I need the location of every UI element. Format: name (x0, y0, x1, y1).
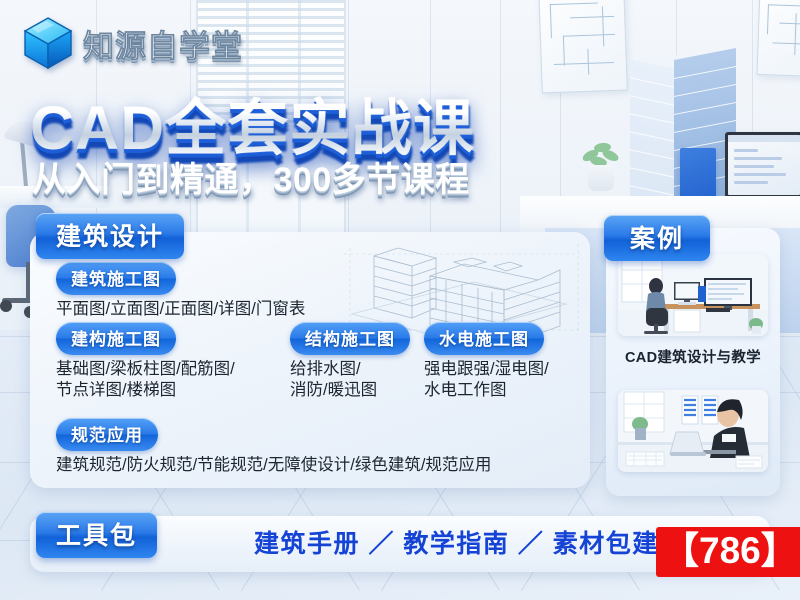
desc-architectural-drawings: 平面图/立面图/正面图/详图/门窗表 (56, 299, 305, 320)
badge-cases: 案例 (604, 215, 710, 261)
page-subtitle: 从入门到精通，300多节课程 (32, 152, 470, 201)
cube-icon (22, 16, 74, 70)
case-caption: CAD建筑设计与教学 (606, 346, 780, 367)
blueprint-sheet-icon (757, 0, 800, 77)
brand-name: 知源自学堂 (83, 21, 243, 66)
group-structure-drawings: 结构施工图 给排水图/ 消防/暖迅图 (290, 322, 420, 401)
desc-structure-drawings: 给排水图/ 消防/暖迅图 (290, 359, 420, 401)
badge-toolkit: 工具包 (36, 512, 157, 558)
poster-root: 知源自学堂 CAD全套实战课 从入门到精通，300多节课程 (0, 0, 800, 600)
pill-architectural-drawings: 建筑施工图 (56, 262, 176, 295)
desc-code-compliance: 建筑规范/防火规范/节能规范/无障使设计/绿色建筑/规范应用 (56, 455, 491, 476)
case-image-desk-setup (618, 254, 768, 336)
desc-structural-framing: 基础图/梁板柱图/配筋图/ 节点详图/楼梯图 (56, 359, 286, 401)
pill-structural-framing: 建构施工图 (56, 322, 176, 355)
group-mep-drawings: 水电施工图 强电跟强/湿电图/ 水电工作图 (424, 322, 584, 401)
group-architectural-drawings: 建筑施工图 平面图/立面图/正面图/详图/门窗表 (56, 262, 305, 320)
toolkit-items: 建筑手册 ／ 教学指南 ／ 素材包建 (254, 524, 659, 560)
blueprint-sheet-icon (538, 0, 628, 93)
monitor-icon (725, 132, 800, 198)
desc-mep-drawings: 强电跟强/湿电图/ 水电工作图 (424, 359, 584, 401)
group-code-compliance: 规范应用 建筑规范/防火规范/节能规范/无障使设计/绿色建筑/规范应用 (56, 418, 491, 476)
pill-code-compliance: 规范应用 (56, 418, 158, 451)
brand-logo[interactable]: 知源自学堂 (22, 16, 243, 70)
potted-plant-icon (580, 135, 622, 191)
promo-number-badge: 【786】 (656, 527, 800, 577)
pill-structure-drawings: 结构施工图 (290, 322, 410, 355)
badge-design: 建筑设计 (36, 213, 184, 259)
case-image-woman-laptop (618, 390, 768, 472)
case-panel: CAD建筑设计与教学 (606, 228, 780, 496)
pill-mep-drawings: 水电施工图 (424, 322, 544, 355)
group-structural-framing: 建构施工图 基础图/梁板柱图/配筋图/ 节点详图/楼梯图 (56, 322, 286, 401)
